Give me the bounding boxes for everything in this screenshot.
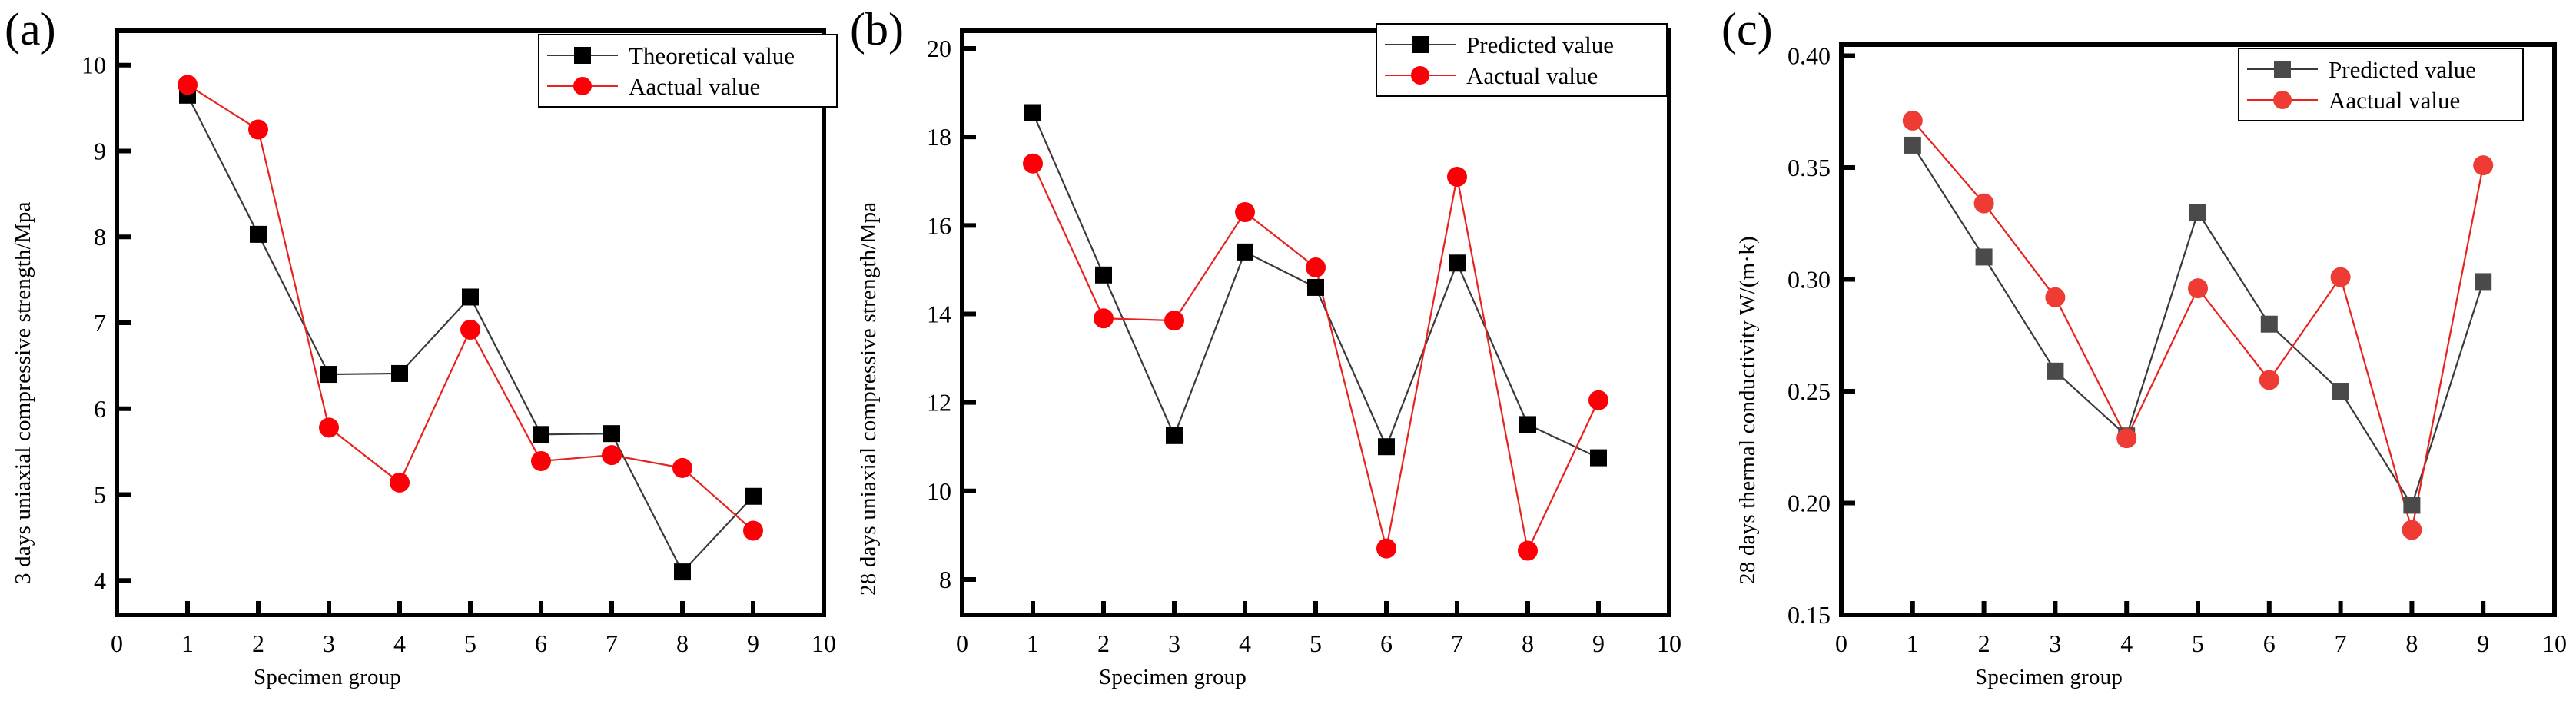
data-point-marker: [178, 75, 198, 95]
x-tick-label: 3: [2049, 629, 2061, 657]
y-tick-label: 5: [94, 481, 106, 509]
data-point-marker: [2332, 383, 2349, 400]
x-tick-label: 8: [2405, 629, 2418, 657]
data-point-marker: [1164, 311, 1184, 330]
x-tick-label: 3: [1168, 629, 1180, 657]
data-point-marker: [1904, 137, 1921, 154]
x-tick-label: 10: [1657, 629, 1681, 657]
y-tick-label: 4: [94, 566, 106, 594]
data-point-marker: [2402, 520, 2422, 540]
x-tick-label: 5: [2192, 629, 2204, 657]
x-tick-label: 4: [1239, 629, 1251, 657]
x-tick-label: 4: [2120, 629, 2133, 657]
data-point-marker: [1903, 111, 1923, 131]
data-point-marker: [1023, 154, 1043, 174]
panel-b: (b) 28 days uniaxial compressive strengt…: [845, 0, 1691, 724]
legend-swatch-circle: [547, 85, 618, 87]
panel-c: (c) 28 days thermal conductivity W/(m·k)…: [1691, 0, 2576, 724]
x-tick-label: 6: [535, 629, 547, 657]
x-tick-label: 1: [1027, 629, 1039, 657]
y-tick-label: 12: [927, 389, 951, 417]
figure-root: (a) 3 days uniaxial compressive strength…: [0, 0, 2576, 724]
x-tick-label: 5: [1310, 629, 1322, 657]
data-point-marker: [2261, 316, 2278, 333]
legend-label-predicted: Theoretical value: [629, 44, 795, 68]
x-tick-label: 1: [181, 629, 194, 657]
x-tick-label: 8: [1522, 629, 1534, 657]
y-tick-label: 0.15: [1788, 601, 1831, 629]
y-tick-label: 7: [94, 309, 106, 337]
data-point-marker: [1519, 416, 1536, 433]
y-tick-label: 16: [927, 211, 951, 239]
data-point-marker: [1024, 105, 1041, 121]
data-point-marker: [2047, 363, 2063, 380]
data-point-marker: [1378, 438, 1395, 455]
x-tick-label: 10: [812, 629, 836, 657]
data-point-marker: [603, 425, 620, 442]
y-tick-label: 9: [94, 137, 106, 164]
x-tick-label: 2: [1978, 629, 1990, 657]
data-point-marker: [248, 120, 268, 140]
x-tick-label: 6: [2263, 629, 2276, 657]
data-point-marker: [2116, 428, 2136, 448]
data-point-marker: [2189, 204, 2206, 221]
legend-label-actual: Aactual value: [1466, 64, 1598, 88]
data-point-marker: [1449, 254, 1466, 271]
data-point-marker: [2188, 278, 2208, 298]
legend-label-predicted: Predicted value: [1466, 33, 1614, 57]
data-point-marker: [1306, 257, 1326, 277]
data-point-marker: [460, 320, 480, 340]
data-point-marker: [1376, 539, 1396, 559]
x-tick-label: 7: [2335, 629, 2347, 657]
x-tick-label: 4: [393, 629, 406, 657]
x-tick-label: 0: [1835, 629, 1847, 657]
x-tick-label: 9: [2477, 629, 2489, 657]
y-tick-label: 8: [94, 223, 106, 251]
data-point-marker: [672, 458, 692, 478]
data-point-marker: [745, 488, 762, 505]
data-point-marker: [1518, 541, 1538, 561]
data-point-marker: [1166, 427, 1183, 444]
y-tick-label: 0.25: [1788, 377, 1831, 405]
y-tick-label: 6: [94, 395, 106, 423]
legend-label-predicted: Predicted value: [2329, 58, 2476, 81]
y-tick-label: 0.35: [1788, 154, 1831, 181]
panel-c-legend: Predicted value Aactual value: [2238, 48, 2524, 121]
data-point-marker: [743, 520, 763, 540]
panel-a-legend: Theoretical value Aactual value: [538, 34, 838, 108]
legend-swatch-circle: [1385, 75, 1456, 76]
y-tick-label: 10: [927, 477, 951, 505]
x-tick-label: 10: [2542, 629, 2567, 657]
data-point-marker: [1235, 202, 1255, 222]
data-point-marker: [2403, 497, 2420, 513]
data-point-marker: [2331, 267, 2351, 287]
x-tick-label: 9: [1592, 629, 1605, 657]
legend-item-actual[interactable]: Aactual value: [2247, 85, 2511, 115]
x-tick-label: 1: [1907, 629, 1919, 657]
data-point-marker: [1094, 308, 1114, 328]
data-point-marker: [533, 426, 549, 443]
legend-swatch-square: [547, 55, 618, 56]
x-tick-label: 2: [252, 629, 264, 657]
data-point-marker: [1976, 248, 1993, 265]
data-point-marker: [1095, 267, 1112, 284]
data-point-marker: [2045, 287, 2065, 307]
data-point-marker: [2475, 273, 2491, 290]
data-point-marker: [390, 473, 410, 493]
legend-label-actual: Aactual value: [629, 75, 760, 98]
panel-b-plot: 8101214161820012345678910: [845, 0, 1691, 724]
x-tick-label: 5: [464, 629, 476, 657]
panel-a: (a) 3 days uniaxial compressive strength…: [0, 0, 845, 724]
y-tick-label: 8: [939, 566, 951, 593]
x-tick-label: 2: [1097, 629, 1110, 657]
legend-swatch-square: [2247, 68, 2318, 70]
x-tick-label: 8: [676, 629, 689, 657]
legend-swatch-square: [1385, 44, 1456, 45]
data-point-marker: [320, 366, 337, 383]
data-point-marker: [1590, 450, 1607, 467]
y-tick-label: 14: [927, 300, 951, 327]
data-point-marker: [1974, 194, 1994, 214]
data-point-marker: [462, 288, 479, 305]
x-tick-label: 7: [1451, 629, 1463, 657]
data-point-marker: [2259, 370, 2279, 390]
legend-label-actual: Aactual value: [2329, 88, 2460, 112]
y-tick-label: 0.20: [1788, 490, 1831, 517]
legend-item-actual[interactable]: Aactual value: [547, 71, 825, 101]
legend-item-actual[interactable]: Aactual value: [1385, 60, 1655, 91]
legend-item-predicted[interactable]: Predicted value: [1385, 29, 1655, 60]
y-tick-label: 0.40: [1788, 42, 1831, 70]
data-point-marker: [602, 445, 622, 465]
data-point-marker: [674, 563, 691, 580]
data-point-marker: [1447, 167, 1467, 187]
data-point-marker: [531, 451, 551, 471]
y-tick-label: 18: [927, 123, 951, 151]
x-tick-label: 0: [956, 629, 968, 657]
legend-item-predicted[interactable]: Predicted value: [2247, 54, 2511, 85]
panel-b-legend: Predicted value Aactual value: [1376, 23, 1668, 97]
x-tick-label: 6: [1380, 629, 1393, 657]
legend-item-predicted[interactable]: Theoretical value: [547, 40, 825, 71]
data-point-marker: [1237, 244, 1253, 261]
x-tick-label: 0: [111, 629, 123, 657]
x-tick-label: 3: [323, 629, 335, 657]
data-point-marker: [2473, 155, 2493, 175]
data-point-marker: [250, 226, 267, 243]
x-tick-label: 9: [747, 629, 759, 657]
x-tick-label: 7: [606, 629, 618, 657]
y-tick-label: 10: [81, 51, 106, 79]
legend-swatch-circle: [2247, 99, 2318, 101]
data-point-marker: [1588, 390, 1608, 410]
y-tick-label: 20: [927, 35, 951, 62]
y-tick-label: 0.30: [1788, 266, 1831, 294]
data-point-marker: [1307, 279, 1324, 296]
panel-a-plot: 45678910012345678910: [0, 0, 845, 724]
data-point-marker: [391, 365, 408, 382]
data-point-marker: [319, 417, 339, 437]
